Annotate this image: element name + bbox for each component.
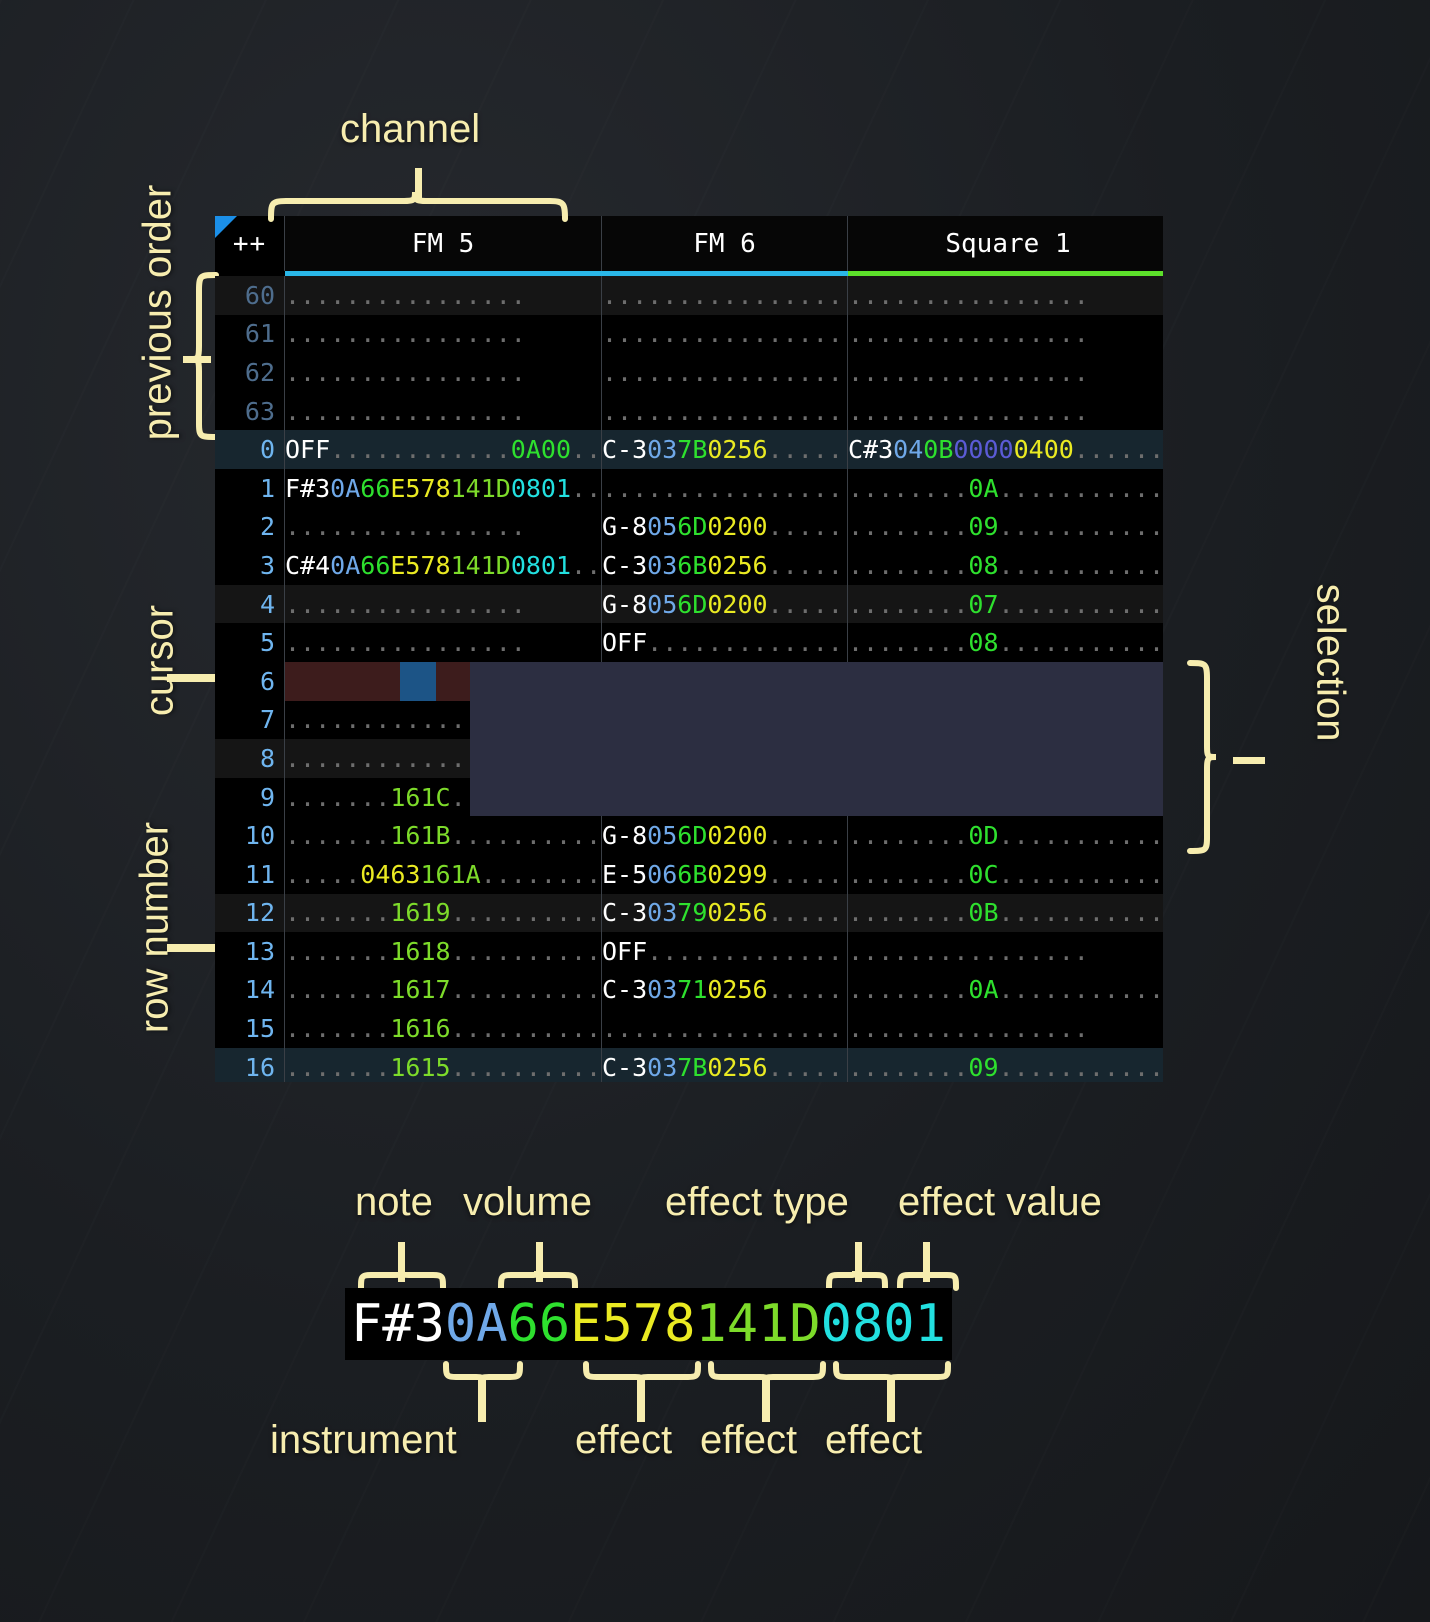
cell-token-note: OFF xyxy=(602,705,647,734)
pattern-cell[interactable]: ........0C.................... xyxy=(848,778,1163,817)
cell-token-fxA: 02 xyxy=(707,590,737,619)
cell-token-ins: 04 xyxy=(893,435,923,464)
row-cells: .......1618........................OFF..… xyxy=(285,932,1163,971)
cell-token-dot: ............ xyxy=(330,435,511,464)
empty-cell-dots: ................ xyxy=(848,319,1089,348)
channel-brace xyxy=(268,190,568,222)
cell-token-fxA: 02 xyxy=(707,512,737,541)
pattern-row[interactable]: 3C#40A66E578141D0801....................… xyxy=(215,546,1163,585)
cell-token-fxA: 02 xyxy=(707,821,737,850)
cell-token-volL: 1615 xyxy=(390,1053,450,1082)
cell-token-vol: 08 xyxy=(968,628,998,657)
pattern-row[interactable]: 10.......161B........................G-8… xyxy=(215,816,1163,855)
volume-brace xyxy=(498,1270,578,1290)
pattern-cell[interactable]: ................ xyxy=(602,276,848,315)
cell-token-fxB: 14 xyxy=(451,551,481,580)
row-cells: .......161C.............................… xyxy=(285,778,1163,817)
pattern-cell[interactable]: .......1617........................ xyxy=(285,971,602,1010)
cell-token-ins: 06 xyxy=(647,667,677,696)
cell-token-fxA: 56 xyxy=(737,435,767,464)
cell-token-fxA: 78 xyxy=(420,474,450,503)
cell-token-vol: 66 xyxy=(360,551,390,580)
pattern-row[interactable]: 60......................................… xyxy=(215,276,1163,315)
cell-token-dot: .... xyxy=(768,551,828,580)
pattern-row[interactable]: 62......................................… xyxy=(215,353,1163,392)
channel-header-row: ++ FM 5FM 6Square 1 xyxy=(215,216,1163,271)
pattern-row[interactable]: 4................G-8056D0200............… xyxy=(215,585,1163,624)
cell-token-note: C-3 xyxy=(602,1053,647,1082)
pattern-cell[interactable]: ........0A.................... xyxy=(848,971,1163,1010)
cell-token-fxA: 02 xyxy=(707,1053,737,1082)
cell-token-fxA: 02 xyxy=(707,898,737,927)
cell-token-fxC: 01 xyxy=(541,474,571,503)
pattern-row[interactable]: 0OFF............0A00....................… xyxy=(215,430,1163,469)
row-number: 16 xyxy=(215,1048,285,1082)
cell-token-dot: .... xyxy=(1074,435,1134,464)
cell-pad-dots: .................... xyxy=(828,975,848,1004)
cell-token-dot: .... xyxy=(768,860,828,889)
pattern-row[interactable]: 61......................................… xyxy=(215,315,1163,354)
cell-pad-dots: .................... xyxy=(999,474,1163,503)
pattern-cell[interactable]: .....0463161A........................ xyxy=(285,855,602,894)
annotation-instrument: instrument xyxy=(270,1418,457,1463)
cell-token-dot: ........ xyxy=(848,551,968,580)
pattern-cell[interactable]: ................ xyxy=(285,315,602,354)
cell-pad-dots: .................... xyxy=(999,551,1163,580)
cell-token-dot: ........ xyxy=(848,512,968,541)
cell-pad-dots: .................... xyxy=(541,860,602,889)
pattern-cell[interactable]: ........090464.................... xyxy=(848,662,1163,701)
row-cells: .....0463161A........................E-5… xyxy=(285,855,1163,894)
pattern-cell[interactable]: G-8056D0200........................ xyxy=(602,585,848,624)
cell-token-fxA: 00 xyxy=(737,512,767,541)
row-cells: .......1616.............................… xyxy=(285,1009,1163,1048)
pattern-cell[interactable]: ................ xyxy=(602,778,848,817)
pattern-cell[interactable]: ................ xyxy=(285,623,602,662)
cell-token-fxD: 00 xyxy=(983,435,1013,464)
cell-pad-dots: .................... xyxy=(828,435,848,464)
pattern-cell[interactable]: ................ xyxy=(602,469,848,508)
cell-token-dot: .... xyxy=(451,975,511,1004)
pattern-cell[interactable]: C-3037B0256........................ xyxy=(602,1048,848,1082)
cell-token-vol: 0A xyxy=(511,435,541,464)
cell-token-vol: 7B xyxy=(677,1053,707,1082)
row-cells: .......1615........................C-303… xyxy=(285,1048,1163,1082)
row-cells: ........................................… xyxy=(285,276,1163,315)
row-cells: ................OFF.....................… xyxy=(285,623,1163,662)
cell-token-fxB: 1D xyxy=(481,474,511,503)
pattern-row[interactable]: 12.......1619........................C-3… xyxy=(215,894,1163,933)
cell-token-ins: 0A xyxy=(330,474,360,503)
pattern-row[interactable]: 8................E-5067B0299............… xyxy=(215,739,1163,778)
annotation-selection: selection xyxy=(1308,468,1353,858)
cell-token-dot: ....... xyxy=(285,937,390,966)
cell-token-dot: ........ xyxy=(848,1053,968,1082)
cell-token-fxA: 02 xyxy=(707,860,737,889)
pattern-cell[interactable]: ................ xyxy=(602,353,848,392)
cell-token-note: OFF xyxy=(285,435,330,464)
annotation-effect-type: effect type xyxy=(665,1180,849,1225)
pattern-row[interactable]: 63......................................… xyxy=(215,392,1163,431)
cell-token-note: E-5 xyxy=(602,744,647,773)
cell-pad-dots: .................... xyxy=(571,551,602,580)
pattern-cell[interactable]: .......161B........................ xyxy=(285,816,602,855)
cell-token-dot: ....... xyxy=(285,1014,390,1043)
pattern-cell[interactable]: ................ xyxy=(848,392,1163,431)
cell-token-dot: .... xyxy=(768,975,828,1004)
cell-pad-dots: .................... xyxy=(999,512,1163,541)
cell-token-fxC: 08 xyxy=(511,474,541,503)
pattern-row[interactable]: 13.......1618........................OFF… xyxy=(215,932,1163,971)
cell-token-fxA: 56 xyxy=(737,1053,767,1082)
legend-token-fxB: 1D xyxy=(758,1294,821,1354)
empty-cell-dots: ................ xyxy=(285,358,526,387)
pattern-cell[interactable]: OFF.................................. xyxy=(602,932,848,971)
cell-pad-dots: .................... xyxy=(511,821,602,850)
empty-cell-dots: ................ xyxy=(602,1014,843,1043)
cell-pad-dots: .................... xyxy=(511,975,602,1004)
pattern-cell[interactable]: ................ xyxy=(285,585,602,624)
pattern-cell[interactable]: ........0C.................... xyxy=(848,855,1163,894)
pattern-cell[interactable]: C#40A66E578141D0801.................... xyxy=(285,546,602,585)
cell-token-dot: .... xyxy=(768,512,828,541)
cell-token-fxA: 02 xyxy=(707,744,737,773)
pattern-editor[interactable]: ++ FM 5FM 6Square 1 60..................… xyxy=(215,216,1163,1082)
row-cells: ........................................… xyxy=(285,392,1163,431)
empty-cell-dots: ................ xyxy=(602,281,843,310)
empty-cell-dots: ................ xyxy=(602,783,843,812)
cell-token-fxA: 99 xyxy=(737,667,767,696)
annotation-effect-1: effect xyxy=(575,1418,672,1463)
cell-token-note: C#3 xyxy=(848,435,893,464)
channel-header-2[interactable]: FM 6 xyxy=(602,216,848,271)
cell-pad-dots: .................... xyxy=(828,860,848,889)
empty-cell-dots: ................ xyxy=(285,705,526,734)
cell-token-dot: .... xyxy=(451,898,511,927)
row-cells: F#30A66E578141D0801.....................… xyxy=(285,469,1163,508)
cell-token-vol: 79 xyxy=(677,898,707,927)
pattern-row[interactable]: 14.......1617........................C-3… xyxy=(215,971,1163,1010)
cell-token-fxA: 02 xyxy=(707,667,737,696)
cell-token-note: C-3 xyxy=(602,975,647,1004)
pattern-row[interactable]: 5................OFF....................… xyxy=(215,623,1163,662)
pattern-cell[interactable]: OFF.................................. xyxy=(602,623,848,662)
cell-token-fxA: E5 xyxy=(390,551,420,580)
cell-token-vol: 07 xyxy=(968,590,998,619)
cell-token-fxA: 78 xyxy=(420,551,450,580)
cell-token-dot: ........ xyxy=(848,628,968,657)
effect2-stem xyxy=(762,1380,770,1422)
row-number: 62 xyxy=(215,353,285,392)
pattern-row[interactable]: 11.....0463161A........................E… xyxy=(215,855,1163,894)
cell-pad-dots: .................... xyxy=(451,783,602,812)
channel-header-3[interactable]: Square 1 xyxy=(848,216,1163,271)
pattern-row[interactable]: 16.......1615........................C-3… xyxy=(215,1048,1163,1082)
cell-token-fxA: 0464 xyxy=(999,667,1059,696)
pattern-row[interactable]: 7................OFF....................… xyxy=(215,701,1163,740)
annotation-row-number: row number xyxy=(133,778,178,1078)
pattern-row[interactable]: 1F#30A66E578141D0801....................… xyxy=(215,469,1163,508)
cell-token-vol: 7B xyxy=(677,744,707,773)
effect-type-brace xyxy=(826,1270,888,1290)
pattern-cell[interactable]: ................ xyxy=(602,1009,848,1048)
cell-token-dot: .... xyxy=(768,667,828,696)
cell-token-vol: 0A xyxy=(968,474,998,503)
pattern-cell[interactable]: ........08.................... xyxy=(848,546,1163,585)
effect2-brace xyxy=(708,1362,828,1382)
cell-token-fxA: 00 xyxy=(737,590,767,619)
pattern-cell[interactable]: OFF.................................. xyxy=(602,701,848,740)
cell-token-volL: 161C xyxy=(390,783,450,812)
pattern-cell[interactable]: C-303710256........................ xyxy=(602,971,848,1010)
cell-token-dot: .... xyxy=(451,1014,511,1043)
cell-token-fxB: 1D xyxy=(481,551,511,580)
cell-token-fxA: 02 xyxy=(707,551,737,580)
annotation-previous-order: previous order xyxy=(136,153,181,473)
cell-token-volL: 1616 xyxy=(390,1014,450,1043)
empty-cell-dots: ................ xyxy=(285,319,526,348)
row-number: 5 xyxy=(215,623,285,662)
cell-token-ins: 03 xyxy=(647,435,677,464)
cell-token-vol: 6D xyxy=(677,821,707,850)
pattern-cell[interactable]: ........07.................... xyxy=(848,585,1163,624)
pattern-cell[interactable]: ................ xyxy=(848,276,1163,315)
cell-token-vol: 0A xyxy=(968,705,998,734)
annotation-volume: volume xyxy=(463,1180,592,1225)
cell-token-vol: 0C xyxy=(968,860,998,889)
legend-token-fxC: 01 xyxy=(883,1294,946,1354)
row-number: 10 xyxy=(215,816,285,855)
order-indicator-label: ++ xyxy=(233,229,266,259)
pattern-cell[interactable]: ................ xyxy=(285,739,602,778)
cell-token-dot: .............. xyxy=(647,705,848,734)
row-cells: C#40A66E578141D0801....................C… xyxy=(285,546,1163,585)
instrument-stem xyxy=(478,1380,486,1422)
cell-token-vol: 09 xyxy=(968,512,998,541)
pattern-cell[interactable]: .......1619........................ xyxy=(285,894,602,933)
triangle-marker-icon xyxy=(215,216,237,238)
cell-token-vol: 6B xyxy=(677,551,707,580)
annotation-note: note xyxy=(355,1180,433,1225)
pattern-cell[interactable]: G-8056D0200........................ xyxy=(602,508,848,547)
cell-pad-dots: .................... xyxy=(571,474,602,503)
cell-token-dot: ........ xyxy=(848,821,968,850)
pattern-cell[interactable]: ................ xyxy=(285,701,602,740)
cell-token-volL: 1617 xyxy=(390,975,450,1004)
row-number: 13 xyxy=(215,932,285,971)
pattern-cell[interactable]: ................ xyxy=(848,932,1163,971)
cell-token-vol: 0C xyxy=(968,783,998,812)
cell-token-dot: .... xyxy=(768,1053,828,1082)
empty-cell-dots: ................ xyxy=(602,319,843,348)
cell-token-note: G-8 xyxy=(602,590,647,619)
pattern-cell[interactable]: E-5067B0299........................ xyxy=(602,739,848,778)
channel-header-1[interactable]: FM 5 xyxy=(285,216,602,271)
pattern-cell[interactable]: ................ xyxy=(285,392,602,431)
order-indicator-cell[interactable]: ++ xyxy=(215,216,285,271)
cell-token-ins: 05 xyxy=(647,512,677,541)
row-number: 9 xyxy=(215,778,285,817)
row-number: 61 xyxy=(215,315,285,354)
empty-cell-dots: ................ xyxy=(848,281,1089,310)
cell-token-dot: ........ xyxy=(848,705,968,734)
pattern-cell[interactable]: .......1618........................ xyxy=(285,932,602,971)
empty-cell-dots: ................ xyxy=(285,512,526,541)
cell-token-dot: .............. xyxy=(647,937,848,966)
cell-token-ins: 03 xyxy=(647,1053,677,1082)
cell-token-ins: 0A xyxy=(330,551,360,580)
pattern-cell[interactable]: F#30A66E578141D0801.................... xyxy=(285,469,602,508)
pattern-cell[interactable]: C-3036B0256........................ xyxy=(602,546,848,585)
channel-header-label: Square 1 xyxy=(945,229,1070,259)
cell-token-dot: ....... xyxy=(285,821,390,850)
pattern-cell[interactable]: ................ xyxy=(848,353,1163,392)
empty-cell-dots: ................ xyxy=(848,1014,1089,1043)
cell-pad-dots: .................... xyxy=(999,975,1163,1004)
cell-pad-dots: .................... xyxy=(511,1014,602,1043)
cell-token-note: OFF xyxy=(602,937,647,966)
cell-token-fxA: 00 xyxy=(737,821,767,850)
legend-token-vol: 66 xyxy=(508,1294,571,1354)
pattern-cell[interactable]: ........0B.................... xyxy=(848,739,1163,778)
empty-cell-dots: ................ xyxy=(848,397,1089,426)
cell-pad-dots: .................... xyxy=(828,898,848,927)
pattern-cell[interactable]: C-3037B0256........................ xyxy=(602,430,848,469)
cell-token-note: C-3 xyxy=(602,898,647,927)
cell-pad-dots: .................... xyxy=(999,744,1163,773)
pattern-cell[interactable]: ........0A.................... xyxy=(848,469,1163,508)
pattern-cell[interactable]: .......161C.................... xyxy=(285,778,602,817)
cell-token-fxC: 01 xyxy=(541,551,571,580)
pattern-cell[interactable]: ................ xyxy=(285,353,602,392)
pattern-row[interactable]: 9.......161C............................… xyxy=(215,778,1163,817)
pattern-cell[interactable]: ........09.................... xyxy=(848,1048,1163,1082)
pattern-cell[interactable]: ........08.................... xyxy=(848,623,1163,662)
row-number: 11 xyxy=(215,855,285,894)
cell-token-note: C-3 xyxy=(602,551,647,580)
cell-pad-dots: .................... xyxy=(511,898,602,927)
cell-token-dot: .... xyxy=(768,590,828,619)
pattern-cell[interactable]: C#3040B00000400........................ xyxy=(848,430,1163,469)
cell-token-dot: ........ xyxy=(848,898,968,927)
cell-token-vol: 0D xyxy=(968,821,998,850)
cell-token-vol: 6B xyxy=(677,860,707,889)
row-cells: .......1617........................C-303… xyxy=(285,971,1163,1010)
row-number: 2 xyxy=(215,508,285,547)
cell-token-ins: 03 xyxy=(647,551,677,580)
cell-pad-dots: .................... xyxy=(1134,435,1163,464)
annotation-effect-2: effect xyxy=(700,1418,797,1463)
row-cells: ................E-506770299.............… xyxy=(285,662,1163,701)
cell-token-fxA: 0463 xyxy=(360,860,420,889)
cell-pad-dots: .................... xyxy=(571,435,602,464)
cell-token-fxA: 00 xyxy=(1044,435,1074,464)
row-number: 15 xyxy=(215,1009,285,1048)
pattern-cell[interactable]: ................ xyxy=(848,1009,1163,1048)
empty-cell-dots: ................ xyxy=(285,744,526,773)
empty-cell-dots: ................ xyxy=(285,397,526,426)
cell-token-dot: ........ xyxy=(848,744,968,773)
cell-token-note: C#4 xyxy=(285,551,330,580)
cell-token-note: E-5 xyxy=(602,667,647,696)
cell-token-vol: 00 xyxy=(541,435,571,464)
cell-token-vol: 08 xyxy=(968,551,998,580)
instrument-brace xyxy=(443,1362,523,1382)
annotation-channel: channel xyxy=(340,107,480,152)
cell-token-dot: .... xyxy=(451,1053,511,1082)
row-number: 63 xyxy=(215,392,285,431)
cell-token-fxA: 56 xyxy=(737,551,767,580)
empty-cell-dots: ................ xyxy=(285,590,526,619)
cell-pad-dots: .................... xyxy=(828,512,848,541)
cell-token-dot: ..... xyxy=(285,860,360,889)
empty-cell-dots: ................ xyxy=(848,937,1089,966)
pattern-row[interactable]: 2................G-8056D0200............… xyxy=(215,508,1163,547)
row-cells: .......161B........................G-805… xyxy=(285,816,1163,855)
pattern-cell[interactable]: ........09.................... xyxy=(848,508,1163,547)
empty-cell-dots: ................ xyxy=(285,281,526,310)
cell-pad-dots: .................... xyxy=(999,1053,1163,1082)
cell-token-note: OFF xyxy=(602,628,647,657)
cell-pad-dots: .................... xyxy=(999,705,1163,734)
pattern-cell[interactable]: E-5066B0299........................ xyxy=(602,855,848,894)
row-cells: ................E-5067B0299.............… xyxy=(285,739,1163,778)
pattern-cell[interactable]: G-8056D0200........................ xyxy=(602,816,848,855)
cell-token-fxA: 02 xyxy=(707,975,737,1004)
pattern-cell[interactable]: ................ xyxy=(285,276,602,315)
cell-token-volL: 1618 xyxy=(390,937,450,966)
cell-token-dot: ....... xyxy=(285,898,390,927)
cell-token-fxA: 56 xyxy=(737,975,767,1004)
cell-token-note: F#3 xyxy=(285,474,330,503)
pattern-cell[interactable]: OFF............0A00.................... xyxy=(285,430,602,469)
empty-cell-dots: ................ xyxy=(602,397,843,426)
annotation-effect-value: effect value xyxy=(898,1180,1102,1225)
cell-token-fxA: 02 xyxy=(707,435,737,464)
pattern-cell[interactable]: ................ xyxy=(602,315,848,354)
pattern-cell[interactable]: ........0D.................... xyxy=(848,816,1163,855)
cell-token-fxA: 99 xyxy=(737,744,767,773)
empty-cell-dots: ................ xyxy=(602,358,843,387)
cell-token-ins: 03 xyxy=(647,975,677,1004)
pattern-cell[interactable]: E-506770299........................ xyxy=(602,662,848,701)
row-number: 4 xyxy=(215,585,285,624)
annotation-effect-3: effect xyxy=(825,1418,922,1463)
effect1-stem xyxy=(637,1380,645,1422)
effect1-brace xyxy=(583,1362,703,1382)
cell-token-dot: .... xyxy=(451,821,511,850)
pattern-cell[interactable]: .......1616........................ xyxy=(285,1009,602,1048)
pattern-row[interactable]: 15.......1616...........................… xyxy=(215,1009,1163,1048)
cell-pad-dots: .................... xyxy=(828,551,848,580)
pattern-cell[interactable]: .......1615........................ xyxy=(285,1048,602,1082)
row-number: 0 xyxy=(215,430,285,469)
annotation-cursor: cursor xyxy=(138,546,183,776)
cell-token-note: G-8 xyxy=(602,512,647,541)
cell-token-dot: ........ xyxy=(848,975,968,1004)
cell-token-vol: 0B xyxy=(968,744,998,773)
selection-brace xyxy=(1186,660,1220,856)
pattern-cell[interactable]: ........0A.................... xyxy=(848,701,1163,740)
pattern-cell[interactable]: ................ xyxy=(285,508,602,547)
effect-value-brace xyxy=(897,1270,959,1290)
cell-pad-dots: .................... xyxy=(999,590,1163,619)
pattern-cell[interactable]: C-303790256........................ xyxy=(602,894,848,933)
pattern-cell[interactable]: ........0B.................... xyxy=(848,894,1163,933)
pattern-cell[interactable]: ................ xyxy=(602,392,848,431)
cell-token-vol: 6D xyxy=(677,512,707,541)
pattern-cell[interactable]: ................ xyxy=(848,315,1163,354)
